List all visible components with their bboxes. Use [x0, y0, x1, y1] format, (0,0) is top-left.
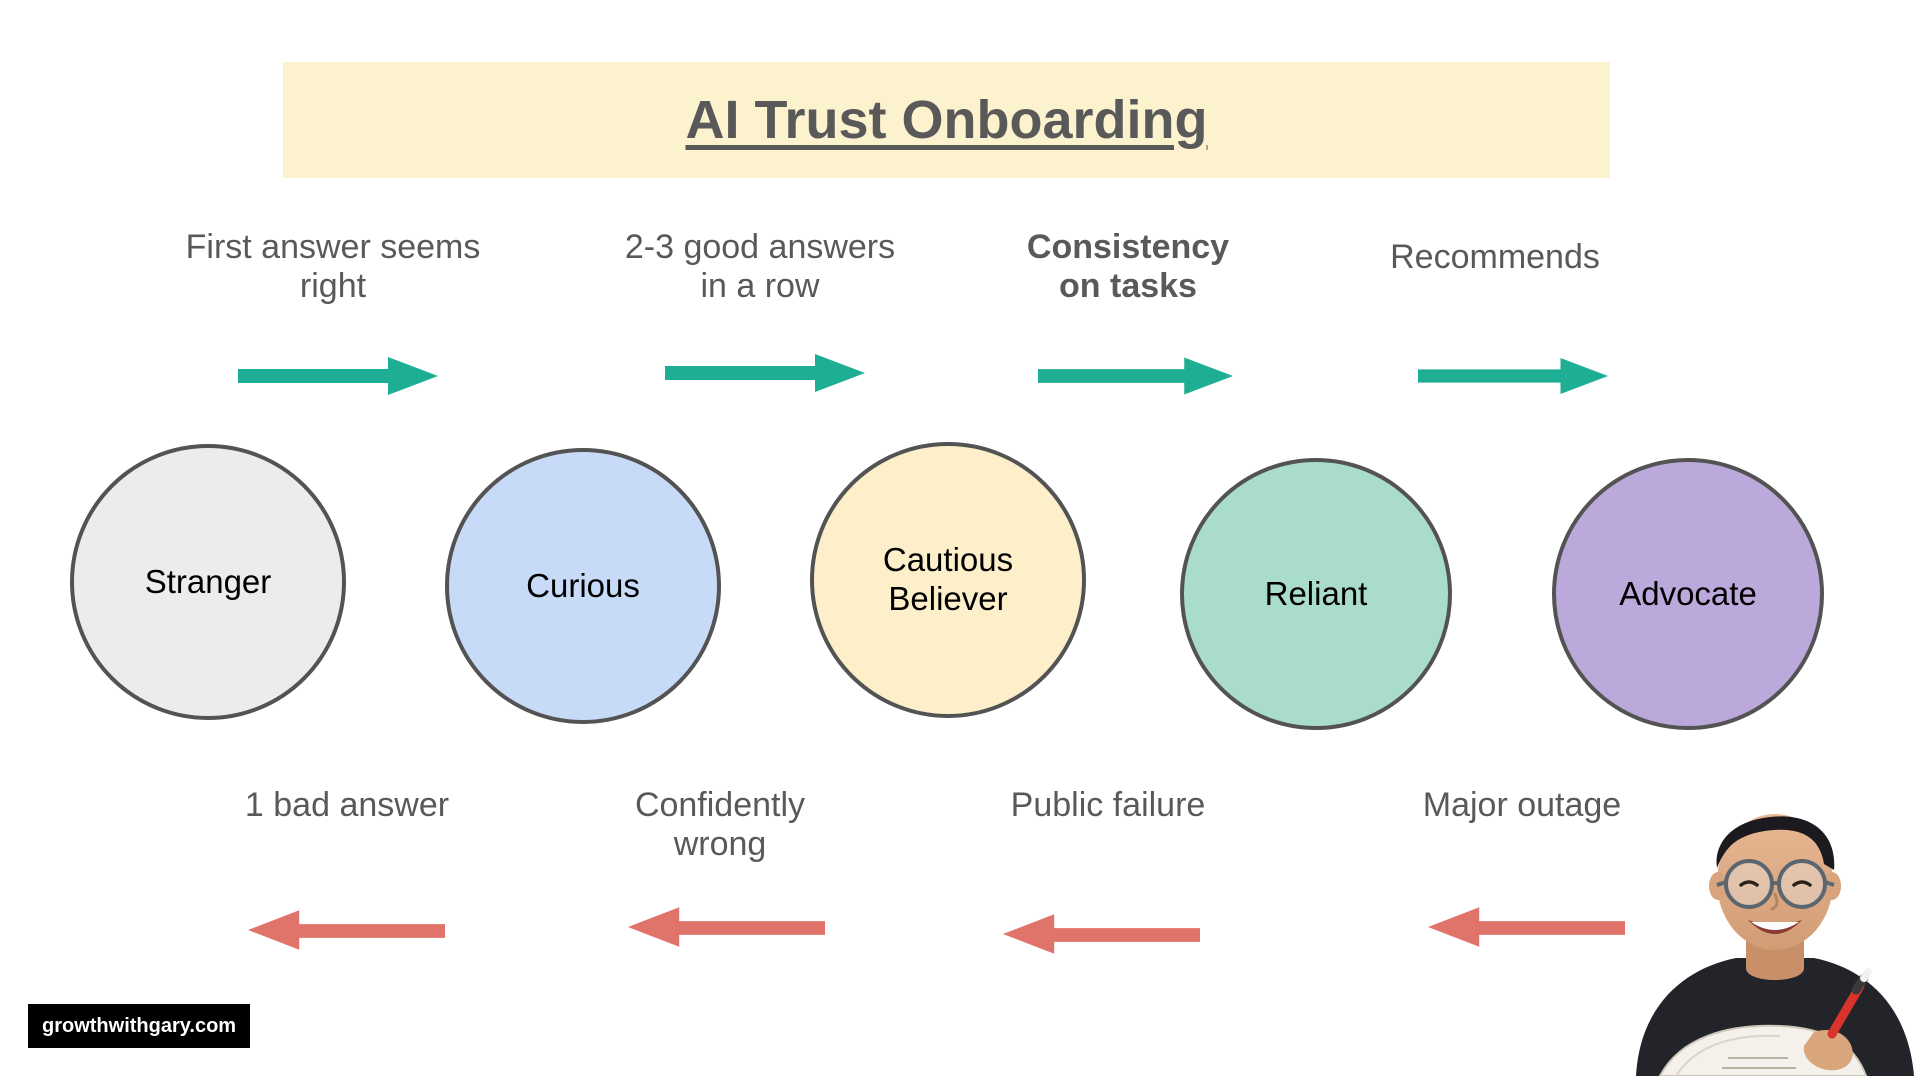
stage-node-cautious-believer[interactable]: Cautious Believer	[810, 442, 1086, 718]
page-title: AI Trust Onboarding	[686, 89, 1208, 151]
stage-label-cautious-believer: Cautious Believer	[883, 541, 1013, 619]
backward-arrow-2-icon	[628, 905, 825, 949]
stage-node-curious[interactable]: Curious	[445, 448, 721, 724]
watermark-badge: growthwithgary.com	[28, 1004, 250, 1048]
forward-label-two-three-good-answers: 2-3 good answers in a row	[560, 228, 960, 307]
backward-label-one-bad-answer: 1 bad answer	[137, 786, 557, 825]
forward-label-first-answer-seems-right: First answer seems right	[123, 228, 543, 307]
slide-canvas: AI Trust Onboarding First answer seems r…	[0, 0, 1918, 1076]
forward-arrow-1-icon	[238, 355, 438, 397]
title-banner: AI Trust Onboarding	[283, 62, 1610, 178]
stage-label-reliant: Reliant	[1265, 575, 1368, 614]
forward-label-recommends: Recommends	[1285, 238, 1705, 277]
stage-label-stranger: Stranger	[145, 563, 272, 602]
watermark-text: growthwithgary.com	[42, 1015, 236, 1038]
stage-label-curious: Curious	[526, 567, 640, 606]
forward-arrow-2-icon	[665, 352, 865, 394]
presenter-photo	[1618, 786, 1918, 1076]
backward-label-public-failure: Public failure	[908, 786, 1308, 825]
backward-arrow-1-icon	[248, 908, 445, 952]
forward-arrow-4-icon	[1418, 355, 1608, 397]
backward-arrow-3-icon	[1003, 912, 1200, 956]
forward-label-consistency-on-tasks: Consistency on tasks	[928, 228, 1328, 307]
backward-label-confidently-wrong: Confidently wrong	[520, 786, 920, 865]
stage-node-advocate[interactable]: Advocate	[1552, 458, 1824, 730]
stage-node-stranger[interactable]: Stranger	[70, 444, 346, 720]
stage-node-reliant[interactable]: Reliant	[1180, 458, 1452, 730]
forward-arrow-3-icon	[1038, 355, 1233, 397]
backward-arrow-4-icon	[1428, 905, 1625, 949]
stage-label-advocate: Advocate	[1619, 575, 1757, 614]
